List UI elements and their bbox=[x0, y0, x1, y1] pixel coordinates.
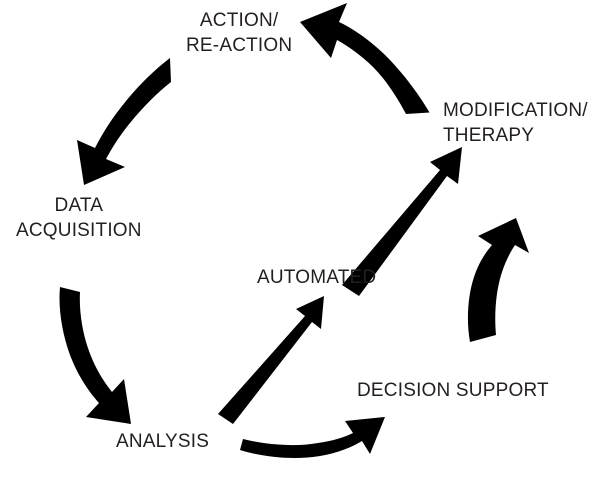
node-label-modification-therapy-line1: MODIFICATION/ bbox=[443, 98, 588, 123]
node-label-automated: AUTOMATED bbox=[257, 265, 376, 290]
node-label-analysis: ANALYSIS bbox=[116, 429, 209, 454]
arrow-decision-support-to-modification-icon bbox=[468, 218, 529, 342]
node-label-action-reaction-line2: RE-ACTION bbox=[186, 33, 292, 58]
arrow-action-to-data-acquisition-icon bbox=[77, 58, 171, 185]
node-label-automated-line1: AUTOMATED bbox=[257, 265, 376, 290]
arrow-analysis-to-decision-support-icon bbox=[240, 417, 385, 458]
node-label-decision-support-line1: DECISION SUPPORT bbox=[357, 378, 549, 403]
arrow-data-acquisition-to-analysis-icon bbox=[59, 287, 131, 424]
node-label-data-acquisition-line1: DATA bbox=[16, 193, 142, 218]
node-label-modification-therapy-line2: THERAPY bbox=[443, 123, 588, 148]
node-label-modification-therapy: MODIFICATION/ THERAPY bbox=[443, 98, 588, 148]
node-label-data-acquisition-line2: ACQUISITION bbox=[16, 218, 142, 243]
node-label-decision-support: DECISION SUPPORT bbox=[357, 378, 549, 403]
node-label-action-reaction-line1: ACTION/ bbox=[186, 8, 292, 33]
arrow-modification-to-action-icon bbox=[300, 3, 430, 114]
node-label-data-acquisition: DATA ACQUISITION bbox=[16, 193, 142, 243]
node-label-action-reaction: ACTION/ RE-ACTION bbox=[186, 8, 292, 58]
cycle-diagram-canvas: ACTION/ RE-ACTION MODIFICATION/ THERAPY … bbox=[0, 0, 601, 485]
node-label-analysis-line1: ANALYSIS bbox=[116, 429, 209, 454]
arrow-analysis-to-automated-icon bbox=[218, 296, 324, 424]
